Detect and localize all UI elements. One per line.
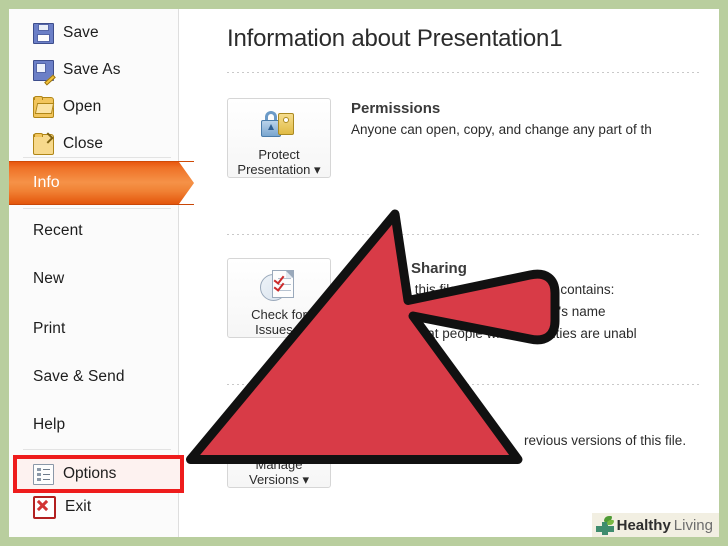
watermark-bold-text: Healthy	[617, 517, 671, 534]
check-for-issues-label: Check for Issues ▾	[251, 307, 307, 337]
sidebar-item-save[interactable]: Save	[9, 17, 178, 49]
prepare-for-sharing-line-1: re sharing this file, be aware that it c…	[351, 282, 614, 297]
open-folder-icon	[33, 97, 54, 118]
sidebar-item-help[interactable]: Help	[9, 409, 178, 441]
sidebar-item-label-info: Info	[33, 174, 60, 192]
powerpoint-backstage-window: Save Save As Open Close Recent New Print…	[9, 9, 719, 537]
protect-presentation-button[interactable]: Protect Presentation ▾	[227, 98, 331, 178]
prepare-for-sharing-heading: pare for Sharing	[351, 260, 467, 277]
lock-and-key-icon	[259, 107, 299, 145]
content-divider-3	[227, 384, 702, 385]
sidebar-item-save-and-send[interactable]: Save & Send	[9, 361, 178, 393]
sidebar-item-label-print: Print	[33, 321, 65, 337]
sidebar-item-options[interactable]: Options	[13, 455, 184, 493]
watermark: Healthy Living	[592, 513, 719, 537]
sidebar-item-label-recent: Recent	[33, 223, 83, 239]
permissions-line-1: Anyone can open, copy, and change any pa…	[351, 122, 652, 137]
sidebar-item-label-new: New	[33, 271, 64, 287]
close-folder-icon	[33, 134, 54, 155]
versions-clock-icon	[259, 417, 299, 455]
page-title: Information about Presentation1	[227, 25, 562, 53]
sidebar-divider-top	[23, 157, 171, 158]
sidebar-item-label-exit: Exit	[65, 499, 91, 515]
protect-presentation-label: Protect Presentation ▾	[237, 147, 320, 177]
green-cross-leaf-icon	[596, 516, 615, 535]
versions-heading: Versions	[351, 410, 414, 427]
sidebar-item-label-open: Open	[63, 99, 101, 115]
sidebar-item-recent[interactable]: Recent	[9, 215, 178, 247]
versions-line-1: revious versions of this file.	[524, 433, 686, 448]
info-tab-notch	[179, 162, 194, 204]
sidebar-item-label-save-and-send: Save & Send	[33, 369, 125, 385]
sidebar-item-label-options: Options	[63, 465, 116, 483]
sidebar-divider-bottom	[23, 208, 171, 209]
watermark-light-text: Living	[674, 517, 713, 534]
permissions-heading: Permissions	[351, 100, 440, 117]
sidebar-item-open[interactable]: Open	[9, 91, 178, 123]
options-document-icon	[33, 464, 54, 485]
sidebar-divider-options	[23, 449, 171, 450]
check-for-issues-button[interactable]: Check for Issues ▾	[227, 258, 331, 338]
manage-versions-button[interactable]: Manage Versions ▾	[227, 408, 331, 488]
save-icon	[33, 23, 54, 44]
sidebar-item-new[interactable]: New	[9, 263, 178, 295]
content-divider-1	[227, 72, 702, 73]
sidebar-item-close[interactable]: Close	[9, 128, 178, 160]
sidebar-item-label-save-as: Save As	[63, 62, 121, 78]
sidebar-item-label-help: Help	[33, 417, 65, 433]
sidebar-item-save-as[interactable]: Save As	[9, 54, 178, 86]
sidebar-item-label-save: Save	[63, 25, 99, 41]
check-issues-icon	[259, 267, 299, 305]
exit-close-icon	[33, 496, 56, 519]
prepare-for-sharing-line-2: Document properties and author's name	[365, 304, 605, 319]
sidebar-item-print[interactable]: Print	[9, 313, 178, 345]
sidebar-item-info[interactable]: Info	[9, 161, 194, 205]
sidebar-item-exit[interactable]: Exit	[9, 491, 178, 523]
content-divider-2	[227, 234, 702, 235]
prepare-for-sharing-line-3: Content that people with disabilities ar…	[365, 326, 637, 341]
sidebar-item-label-close: Close	[63, 136, 103, 152]
manage-versions-label: Manage Versions ▾	[249, 457, 309, 487]
save-as-icon	[33, 60, 54, 81]
backstage-content: Information about Presentation1 Protect …	[179, 9, 719, 537]
